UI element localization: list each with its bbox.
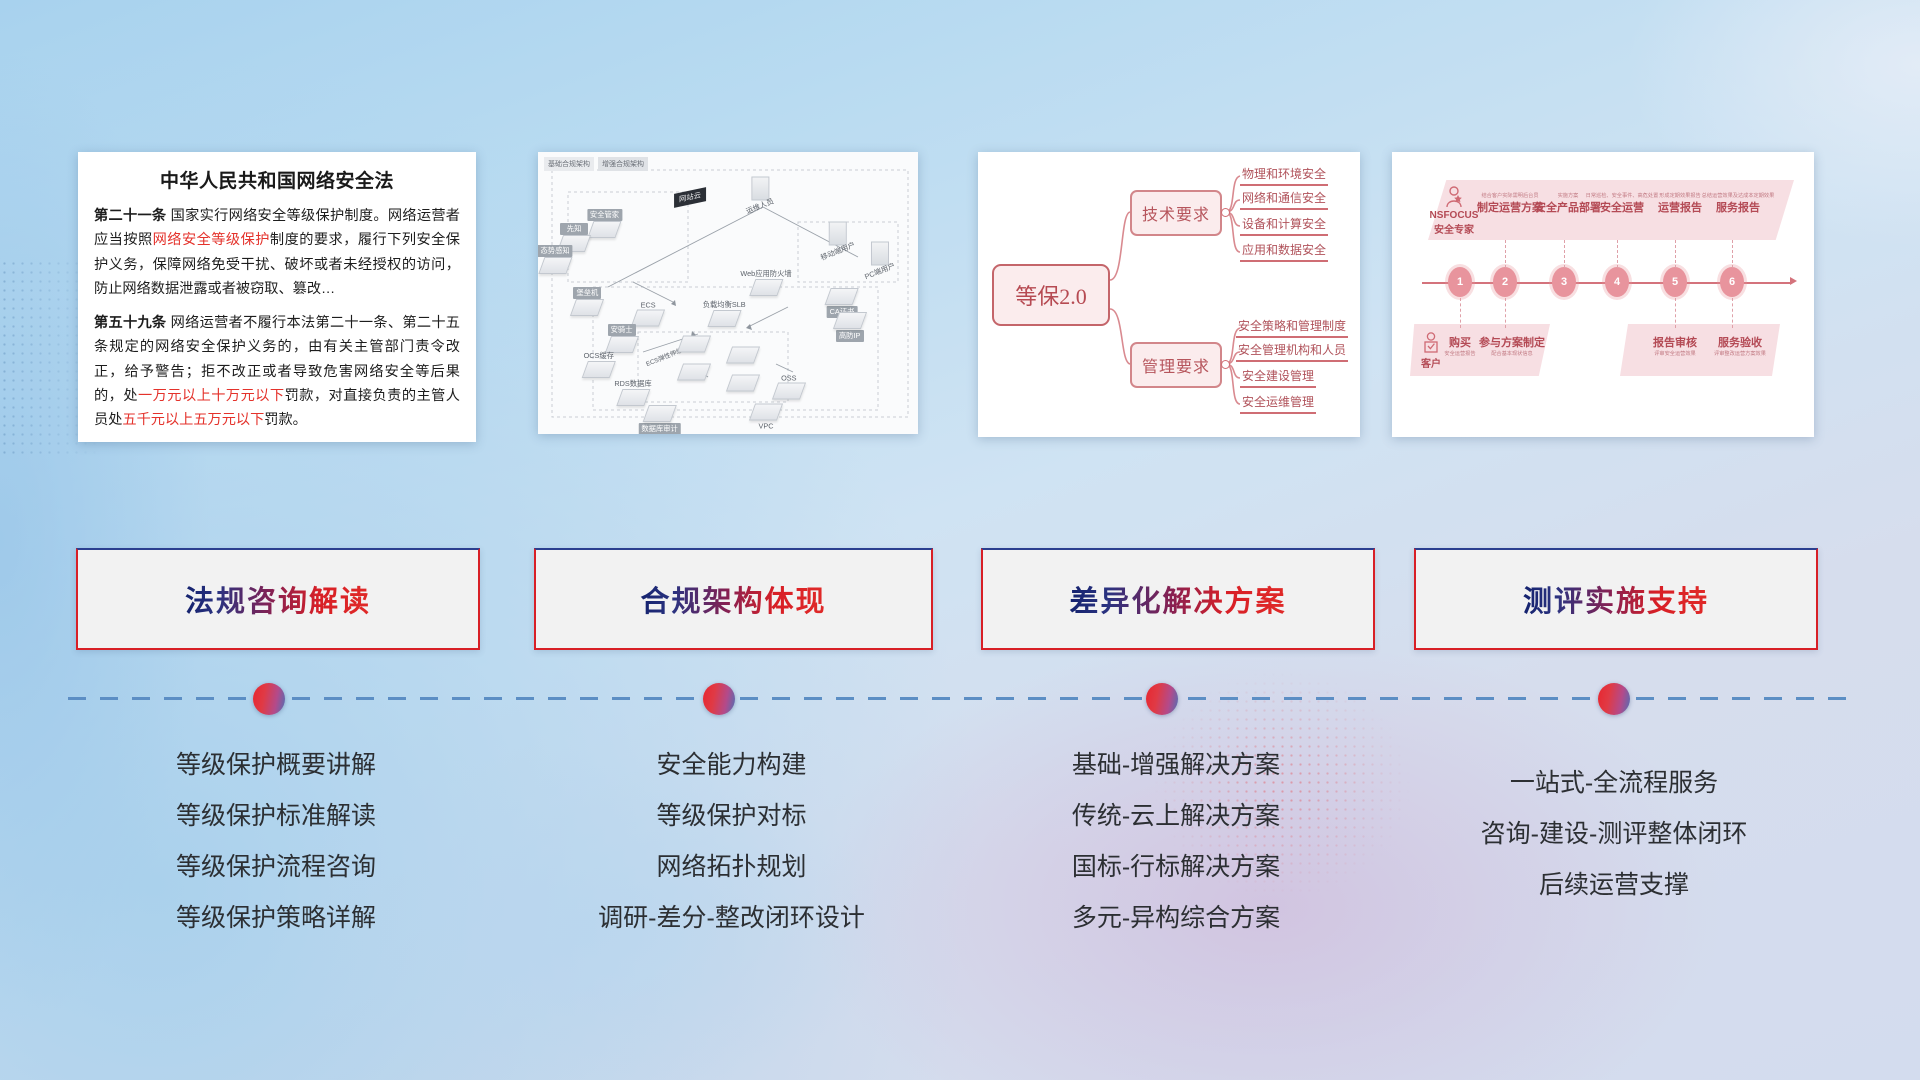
architecture-card: 基础合规架构 增强合规架构 [538, 152, 918, 434]
list-item: 多元-异构综合方案 [981, 893, 1371, 944]
section-title-box-2[interactable]: 合规架构体现 [534, 548, 933, 650]
list-item: 等级保护策略详解 [76, 893, 476, 944]
tab-basic-compliance[interactable]: 基础合规架构 [544, 157, 594, 171]
mindmap-leaf-network-comm: 网络和通信安全 [1240, 189, 1328, 210]
mindmap-leaf-ops-mgmt: 安全运维管理 [1240, 393, 1316, 414]
timeline-card: NSFOCUS 安全专家 客户 1 2 3 4 5 6 [1392, 152, 1814, 437]
law-article-21-highlight: 网络安全等级保护 [153, 232, 270, 248]
node-mobile-user: 移动端用户 [820, 222, 856, 257]
tab-enhanced-compliance[interactable]: 增强合规架构 [598, 157, 648, 171]
timeline-step-4[interactable]: 4 [1605, 267, 1629, 297]
architecture-tabs: 基础合规架构 增强合规架构 [544, 157, 648, 171]
list-item: 等级保护流程咨询 [76, 842, 476, 893]
list-item: 等级保护概要讲解 [76, 740, 476, 791]
node-ecs-instance-d [729, 347, 757, 364]
section-title-4: 测评实施支持 [1523, 578, 1709, 620]
mindmap-leaf-device-compute: 设备和计算安全 [1240, 215, 1328, 236]
list-item: 国标-行标解决方案 [981, 842, 1371, 893]
law-card: 中华人民共和国网络安全法 第二十一条 国家实行网络安全等级保护制度。网络运营者应… [78, 152, 476, 442]
list-item: 网络拓扑规划 [534, 842, 929, 893]
section-titles-row: 法规咨询解读 合规架构体现 差异化解决方案 测评实施支持 [0, 548, 1920, 646]
media-cards-row: 中华人民共和国网络安全法 第二十一条 国家实行网络安全等级保护制度。网络运营者应… [0, 152, 1920, 442]
mindmap-collapse-technical-icon[interactable] [1221, 208, 1230, 217]
section-title-box-3[interactable]: 差异化解决方案 [981, 548, 1375, 650]
mindmap-leaf-org-personnel: 安全管理机构和人员 [1236, 341, 1348, 362]
law-article-59: 第五十九条 网络运营者不履行本法第二十一条、第二十五条规定的网络安全保护义务的，… [94, 311, 460, 433]
law-article-59-highlight-b: 五千元以上五万元以下 [122, 412, 264, 428]
section-title-1: 法规咨询解读 [185, 578, 371, 620]
node-ecs: ECS [634, 299, 662, 326]
mindmap-leaf-construction-mgmt: 安全建设管理 [1240, 367, 1316, 388]
timeline-label-2: 结合客户实际需明后台员 制定运营方案 [1477, 192, 1543, 215]
timeline-step-2[interactable]: 2 [1493, 267, 1517, 297]
node-bastion-host: 堡垒机 [573, 286, 601, 316]
customer-action-purchase: 购买 安全运营报告 [1444, 334, 1475, 357]
mindmap-card: 等保2.0 技术要求 管理要求 物理和环境安全 网络和通信安全 设备和计算安全 … [978, 152, 1360, 437]
node-slb: 负载均衡SLB [703, 299, 746, 327]
list-item: 等级保护对标 [534, 791, 929, 842]
node-security-butler: 安全管家 [587, 208, 622, 238]
list-item: 咨询-建设-测评整体闭环 [1414, 809, 1814, 860]
node-website-cloud: 网站云 [674, 190, 706, 205]
mindmap-leaf-policy-system: 安全策略和管理制度 [1236, 317, 1348, 338]
rail-node-4 [1598, 683, 1630, 715]
section-items-4: 一站式-全流程服务 咨询-建设-测评整体闭环 后续运营支撑 [1414, 740, 1814, 911]
node-vpc: VPC [752, 404, 780, 431]
expert-avatar-icon [1444, 186, 1464, 213]
section-title-box-1[interactable]: 法规咨询解读 [76, 548, 480, 650]
section-title-box-4[interactable]: 测评实施支持 [1414, 548, 1818, 650]
mindmap-branch-management: 管理要求 [1130, 342, 1222, 388]
law-card-title: 中华人民共和国网络安全法 [94, 166, 460, 193]
timeline-rail [68, 697, 1848, 700]
timeline-label-6: 总结运营效果及达成本定期效果 服务报告 [1702, 192, 1775, 215]
section-items-3: 基础-增强解决方案 传统-云上解决方案 国标-行标解决方案 多元-异构综合方案 [981, 740, 1371, 944]
mindmap-collapse-management-icon[interactable] [1221, 360, 1230, 369]
node-ecs-instance-e [729, 375, 757, 392]
list-item: 传统-云上解决方案 [981, 791, 1371, 842]
node-db-audit: 数据库审计 [638, 405, 680, 434]
section-title-3: 差异化解决方案 [1069, 578, 1286, 620]
rail-node-2 [703, 683, 735, 715]
law-article-59-text-c: 罚款。 [264, 412, 307, 428]
timeline-label-5: 形成定期效果报告 运营报告 [1658, 192, 1702, 215]
node-ocs-cache: OCS缓存 [584, 350, 614, 378]
section-title-2: 合规架构体现 [640, 578, 826, 620]
law-article-21-label: 第二十一条 [94, 208, 166, 224]
customer-action-plan-participation: 参与方案制定 配合基本现状信息 [1479, 334, 1545, 357]
node-waf: Web应用防火墙 [740, 268, 791, 296]
mindmap-leaf-app-data: 应用和数据安全 [1240, 241, 1328, 262]
timeline-step-1[interactable]: 1 [1448, 267, 1472, 297]
rail-node-3 [1146, 683, 1178, 715]
section-items-1: 等级保护概要讲解 等级保护标准解读 等级保护流程咨询 等级保护策略详解 [76, 740, 476, 944]
node-ecs-instance-b [680, 335, 708, 352]
timeline-step-6[interactable]: 6 [1720, 267, 1744, 297]
list-item: 一站式-全流程服务 [1414, 758, 1814, 809]
list-item: 等级保护标准解读 [76, 791, 476, 842]
node-situation-awareness: 态势感知 [538, 244, 573, 274]
list-item: 安全能力构建 [534, 740, 929, 791]
customer-action-report-review: 报告审核 评审安全运营效果 [1653, 334, 1697, 357]
rail-node-1 [253, 683, 285, 715]
timeline-label-4: 日常巡检、安全事件、高危处置 安全运营 [1586, 192, 1659, 215]
node-oss: OSS [775, 373, 803, 400]
mindmap-root: 等保2.0 [992, 264, 1110, 326]
law-article-59-highlight-a: 一万元以上十万元以下 [138, 388, 285, 404]
list-item: 后续运营支撑 [1414, 860, 1814, 911]
node-pc-user: PC端用户 [864, 242, 896, 277]
node-rds-database: RDS数据库 [614, 378, 651, 406]
node-ecs-instance-c [680, 363, 708, 380]
customer-label: 客户 [1421, 355, 1441, 370]
customer-action-service-acceptance: 服务验收 评审整改运营方案效果 [1714, 334, 1766, 357]
node-ops-staff: 运维人员 [746, 177, 775, 212]
list-item: 调研-差分-整改闭环设计 [534, 893, 929, 944]
node-anti-ddos-ip: 高防IP [836, 312, 864, 342]
timeline-step-5[interactable]: 5 [1663, 267, 1687, 297]
law-article-21: 第二十一条 国家实行网络安全等级保护制度。网络运营者应当按照网络安全等级保护制度… [94, 204, 460, 302]
timeline-step-3[interactable]: 3 [1552, 267, 1576, 297]
list-item: 基础-增强解决方案 [981, 740, 1371, 791]
section-items-2: 安全能力构建 等级保护对标 网络拓扑规划 调研-差分-整改闭环设计 [534, 740, 929, 944]
expert-label: NSFOCUS 安全专家 [1430, 210, 1479, 236]
mindmap-leaf-physical-env: 物理和环境安全 [1240, 165, 1328, 186]
law-article-59-label: 第五十九条 [94, 315, 166, 331]
mindmap-branch-technical: 技术要求 [1130, 190, 1222, 236]
